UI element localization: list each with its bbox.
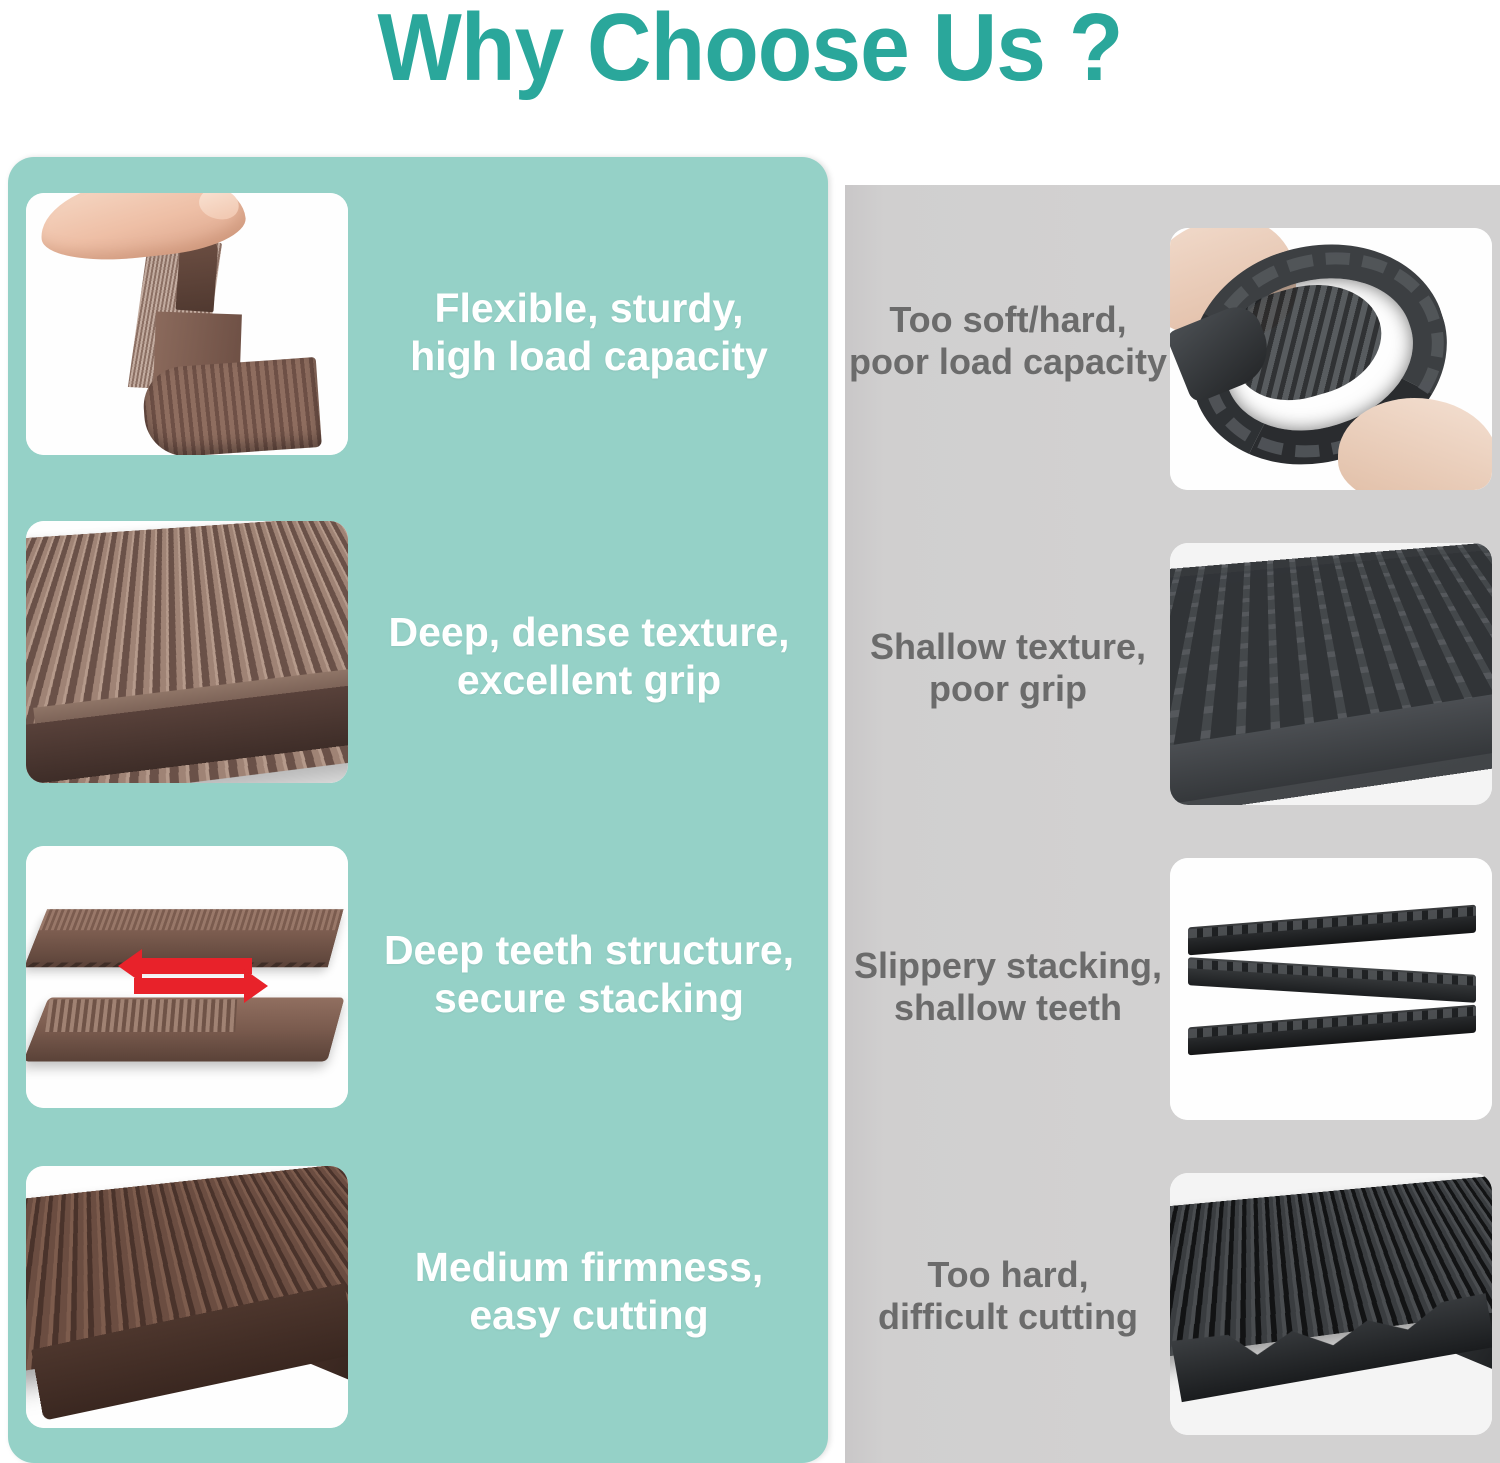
comparison-rows: Flexible, sturdy, high load capacity Too… (0, 0, 1500, 1463)
good-caption-2: Deep, dense texture, excellent grip (358, 608, 820, 705)
brown-wedge-lower-teeth (45, 999, 237, 1032)
brown-wedge-upper-top (39, 909, 344, 930)
brown-strip-hook (141, 357, 322, 455)
bad-image-4 (1170, 1173, 1492, 1435)
bad-image-2 (1170, 543, 1492, 805)
good-image-4 (26, 1166, 348, 1428)
good-caption-1: Flexible, sturdy, high load capacity (358, 284, 820, 381)
good-image-2 (26, 521, 348, 783)
good-caption-3: Deep teeth structure, secure stacking (358, 926, 820, 1023)
fingernail-icon (196, 193, 241, 223)
bad-caption-4: Too hard, difficult cutting (848, 1254, 1168, 1339)
good-caption-4: Medium firmness, easy cutting (358, 1243, 820, 1340)
bad-image-1 (1170, 228, 1492, 490)
bad-caption-3: Slippery stacking, shallow teeth (848, 945, 1168, 1030)
arrow-right-icon (134, 978, 246, 994)
bad-image-3 (1170, 858, 1492, 1120)
good-image-1 (26, 193, 348, 455)
good-image-3 (26, 846, 348, 1108)
stacking-arrows-icon (122, 956, 272, 1002)
arrow-left-icon (140, 958, 252, 974)
bad-caption-1: Too soft/hard, poor load capacity (848, 299, 1168, 384)
brown-wedge-lower (26, 997, 345, 1061)
bad-caption-2: Shallow texture, poor grip (848, 626, 1168, 711)
